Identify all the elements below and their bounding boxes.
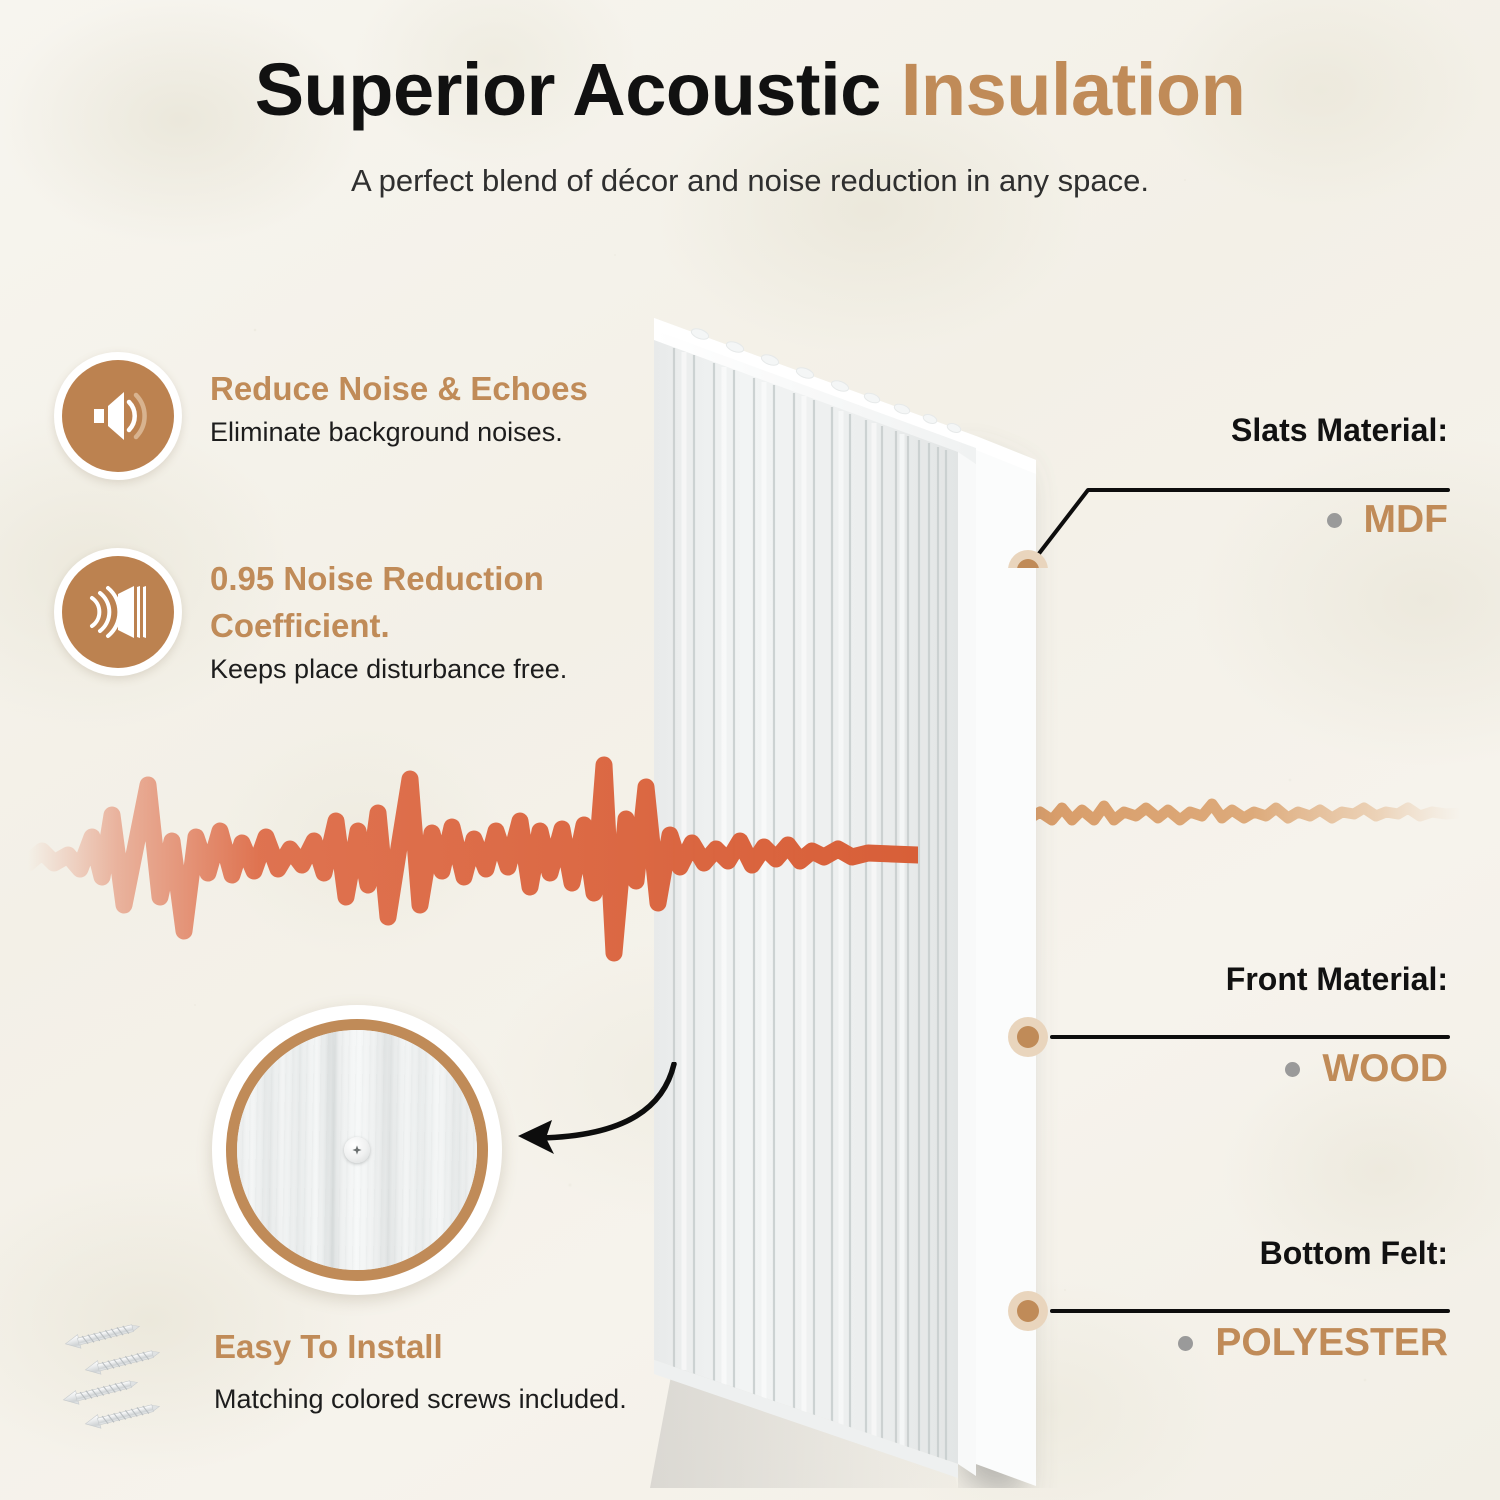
callout-label: Front Material:	[992, 962, 1462, 997]
sound-absorbing-panel-icon	[62, 556, 174, 668]
install-subtitle: Matching colored screws included.	[214, 1384, 627, 1415]
feature-title-line-2: Coefficient.	[210, 603, 567, 650]
callout-leader-straight	[992, 997, 1462, 1035]
callout-label: Bottom Felt:	[992, 1236, 1462, 1271]
install-text: Easy To Install Matching colored screws …	[196, 1318, 627, 1415]
headline-accent-part: Insulation	[901, 48, 1245, 131]
feature-icon-badge	[54, 352, 182, 480]
page-title: Superior Acoustic Insulation	[0, 52, 1500, 129]
callout-bottom-felt: Bottom Felt: POLYESTER	[992, 1236, 1462, 1365]
install-title: Easy To Install	[214, 1328, 627, 1366]
speaker-sound-icon	[62, 360, 174, 472]
headline-dark-part: Superior Acoustic	[255, 48, 881, 131]
loud-sound-waveform	[28, 745, 918, 995]
screws-icon	[58, 1318, 196, 1446]
callout-leader-straight	[992, 1271, 1462, 1309]
screw-detail-inset	[212, 1005, 502, 1295]
callout-label: Slats Material:	[992, 413, 1462, 448]
feature-title-line-1: 0.95 Noise Reduction	[210, 556, 567, 603]
feature-noise-reduction-coefficient: 0.95 Noise Reduction Coefficient. Keeps …	[54, 548, 674, 685]
feature-icon-badge	[54, 548, 182, 676]
page-subtitle: A perfect blend of décor and noise reduc…	[0, 163, 1500, 199]
screw-head-close-up-icon	[344, 1137, 370, 1163]
callout-slats-material: Slats Material: MDF	[992, 413, 1462, 542]
easy-to-install-block: Easy To Install Matching colored screws …	[58, 1318, 698, 1446]
callout-front-material: Front Material: WOOD	[992, 962, 1462, 1091]
curved-arrow-left-icon	[478, 1062, 698, 1192]
feature-text: Reduce Noise & Echoes Eliminate backgrou…	[182, 352, 588, 448]
callout-leader-elbow	[992, 448, 1462, 486]
feature-list: Reduce Noise & Echoes Eliminate backgrou…	[54, 352, 674, 685]
feature-reduce-noise: Reduce Noise & Echoes Eliminate backgrou…	[54, 352, 674, 480]
feature-subtitle: Keeps place disturbance free.	[210, 654, 567, 685]
header: Superior Acoustic Insulation A perfect b…	[0, 52, 1500, 199]
feature-text: 0.95 Noise Reduction Coefficient. Keeps …	[182, 548, 567, 685]
feature-subtitle: Eliminate background noises.	[210, 417, 588, 448]
detail-ring-border	[226, 1019, 488, 1281]
feature-title: Reduce Noise & Echoes	[210, 366, 588, 413]
